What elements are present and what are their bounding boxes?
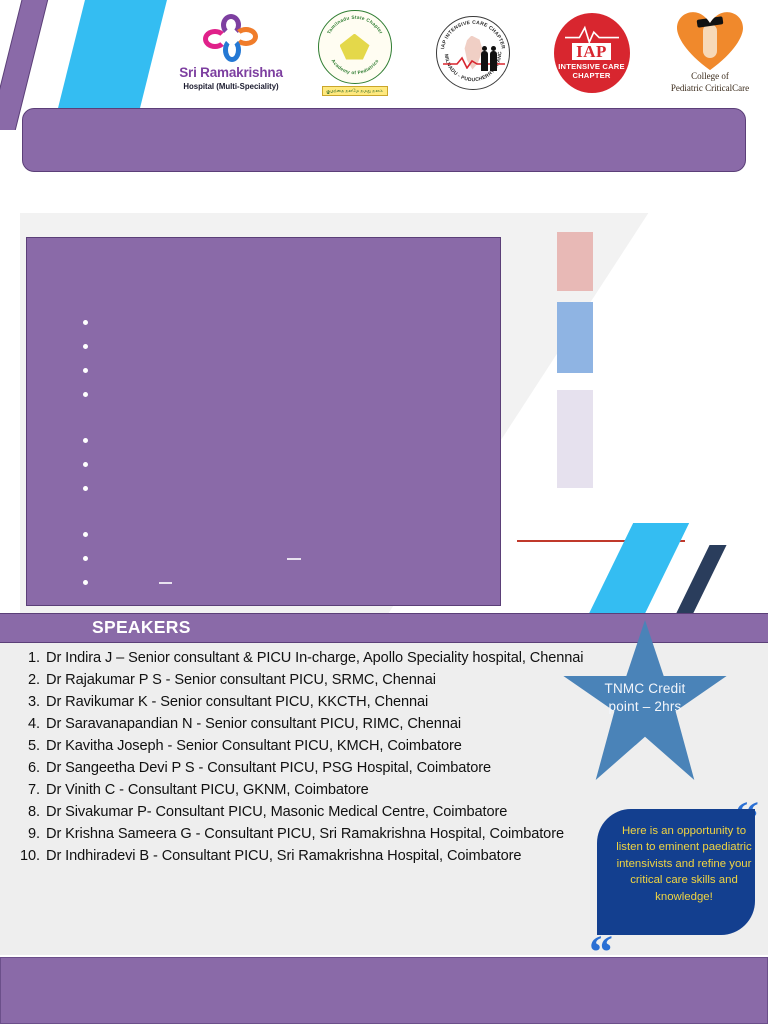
- bullet-point: [83, 320, 88, 325]
- list-item-label: Dr Krishna Sameera G - Consultant PICU, …: [46, 826, 564, 842]
- tnmc-credit-line-2: point – 2hrs: [560, 698, 730, 716]
- footer-bar: [0, 957, 768, 1024]
- text-dash: [159, 582, 172, 584]
- list-item-number: 7.: [6, 779, 40, 801]
- bullet-point: [83, 368, 88, 373]
- tnmc-credit-line-1: TNMC Credit: [560, 680, 730, 698]
- sri-ramakrishna-cross-icon: [203, 14, 259, 64]
- baby-icon: [703, 24, 717, 58]
- swatch-blue: [557, 302, 593, 373]
- ecg-heart-icon: [564, 25, 620, 43]
- green-seal-icon: Tamilnadu State Chapter Academy of Pedia…: [318, 10, 392, 84]
- iap-line-2: CHAPTER: [572, 71, 610, 80]
- title-banner: [22, 108, 746, 172]
- logo-tamilnadu-iap-chapter: Tamilnadu State Chapter Academy of Pedia…: [297, 0, 413, 105]
- iap-line-1: INTENSIVE CARE: [558, 62, 625, 71]
- list-item-label: Dr Sangeetha Devi P S - Consultant PICU,…: [46, 760, 491, 776]
- list-item-label: Dr Indira J – Senior consultant & PICU I…: [46, 650, 583, 666]
- list-item-label: Dr Sivakumar P- Consultant PICU, Masonic…: [46, 804, 507, 820]
- list-item-label: Dr Indhiradevi B - Consultant PICU, Sri …: [46, 848, 521, 864]
- logo-iap-intensive-care-chapter: IAP INTENSIVE CARE CHAPTER: [534, 0, 650, 105]
- svg-text:Academy of Pediatrics: Academy of Pediatrics: [329, 58, 380, 76]
- quote-bubble: Here is an opportunity to listen to emin…: [597, 809, 755, 935]
- logo-title: Sri Ramakrishna: [179, 66, 283, 80]
- agenda-content-box: [26, 237, 501, 606]
- svg-text:Tamilnadu State Chapter: Tamilnadu State Chapter: [326, 14, 384, 35]
- orange-heart-icon: [677, 12, 743, 70]
- quote-text: Here is an opportunity to listen to emin…: [609, 823, 759, 905]
- college-line-2: Pediatric CriticalCare: [671, 83, 749, 93]
- bullet-point: [83, 462, 88, 467]
- bullet-point: [83, 392, 88, 397]
- list-item-number: 9.: [6, 823, 40, 845]
- list-item-label: Dr Ravikumar K - Senior consultant PICU,…: [46, 694, 428, 710]
- list-item-number: 4.: [6, 713, 40, 735]
- swatch-pink: [557, 232, 593, 291]
- list-item-number: 3.: [6, 691, 40, 713]
- bullet-point: [83, 532, 88, 537]
- tnmc-credit-badge: TNMC Credit point – 2hrs: [560, 620, 730, 780]
- list-item-number: 10.: [6, 845, 40, 867]
- list-item-label: Dr Rajakumar P S - Senior consultant PIC…: [46, 672, 436, 688]
- logo-college-pediatric-critical-care: College of Pediatric CriticalCare: [652, 0, 768, 105]
- flyer-page: Sri Ramakrishna Hospital (Multi-Speciali…: [0, 0, 768, 1024]
- bullet-point: [83, 438, 88, 443]
- list-item-number: 8.: [6, 801, 40, 823]
- logo-subtitle: Hospital (Multi-Speciality): [183, 82, 278, 91]
- iap-red-oval-icon: IAP INTENSIVE CARE CHAPTER: [554, 13, 630, 93]
- logo-sri-ramakrishna-hospital: Sri Ramakrishna Hospital (Multi-Speciali…: [168, 0, 294, 105]
- college-line-1: College of: [691, 71, 729, 81]
- logo-iap-icc-tn-pondicherry: IAP INTENSIVE CARE CHAPTER TAMILNADU - P…: [415, 0, 531, 105]
- bullet-point: [83, 556, 88, 561]
- tamil-motto-band: குழந்தை நலமே நமது நலம்: [322, 86, 388, 96]
- iap-acronym: IAP: [572, 43, 611, 61]
- text-dash: [287, 558, 301, 560]
- speakers-heading: SPEAKERS: [92, 617, 191, 638]
- bullet-point: [83, 344, 88, 349]
- list-item-label: Dr Kavitha Joseph - Senior Consultant PI…: [46, 738, 462, 754]
- list-item-number: 2.: [6, 669, 40, 691]
- list-item: 7. Dr Vinith C - Consultant PICU, GKNM, …: [0, 779, 768, 801]
- list-item-label: Dr Vinith C - Consultant PICU, GKNM, Coi…: [46, 782, 369, 798]
- bullet-point: [83, 580, 88, 585]
- promo-quote-callout: “ Here is an opportunity to listen to em…: [589, 805, 761, 955]
- list-item-label: Dr Saravanapandian N - Senior consultant…: [46, 716, 461, 732]
- two-children-icon: [481, 51, 497, 71]
- logo-strip: Sri Ramakrishna Hospital (Multi-Speciali…: [168, 0, 768, 105]
- list-item-number: 1.: [6, 647, 40, 669]
- bullet-point: [83, 486, 88, 491]
- list-item-number: 6.: [6, 757, 40, 779]
- tnmc-credit-text: TNMC Credit point – 2hrs: [560, 680, 730, 716]
- list-item-number: 5.: [6, 735, 40, 757]
- iap-tn-seal-icon: IAP INTENSIVE CARE CHAPTER TAMILNADU - P…: [436, 16, 510, 90]
- swatch-lavender: [557, 390, 593, 488]
